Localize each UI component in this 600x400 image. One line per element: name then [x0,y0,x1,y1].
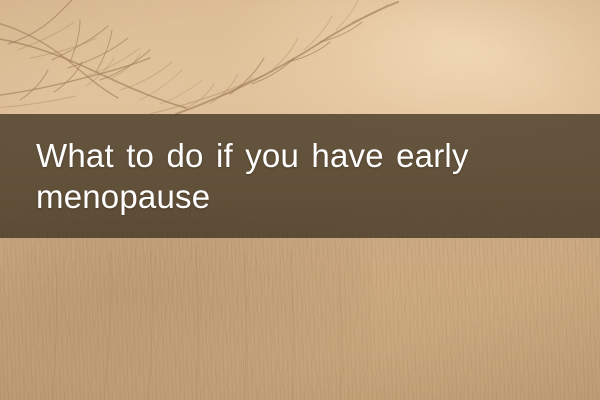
field-stalks [52,246,341,400]
article-banner: What to do if you have early menopause [0,0,600,400]
banner-title: What to do if you have early menopause [36,135,570,217]
branch-cluster-lower-left [0,54,150,108]
title-overlay-band: What to do if you have early menopause [0,114,600,238]
branch-cluster-left [0,0,202,108]
branch-diagonal-right [176,0,398,114]
field-shadow [0,220,372,400]
branch-diagonal-lower [150,76,262,114]
